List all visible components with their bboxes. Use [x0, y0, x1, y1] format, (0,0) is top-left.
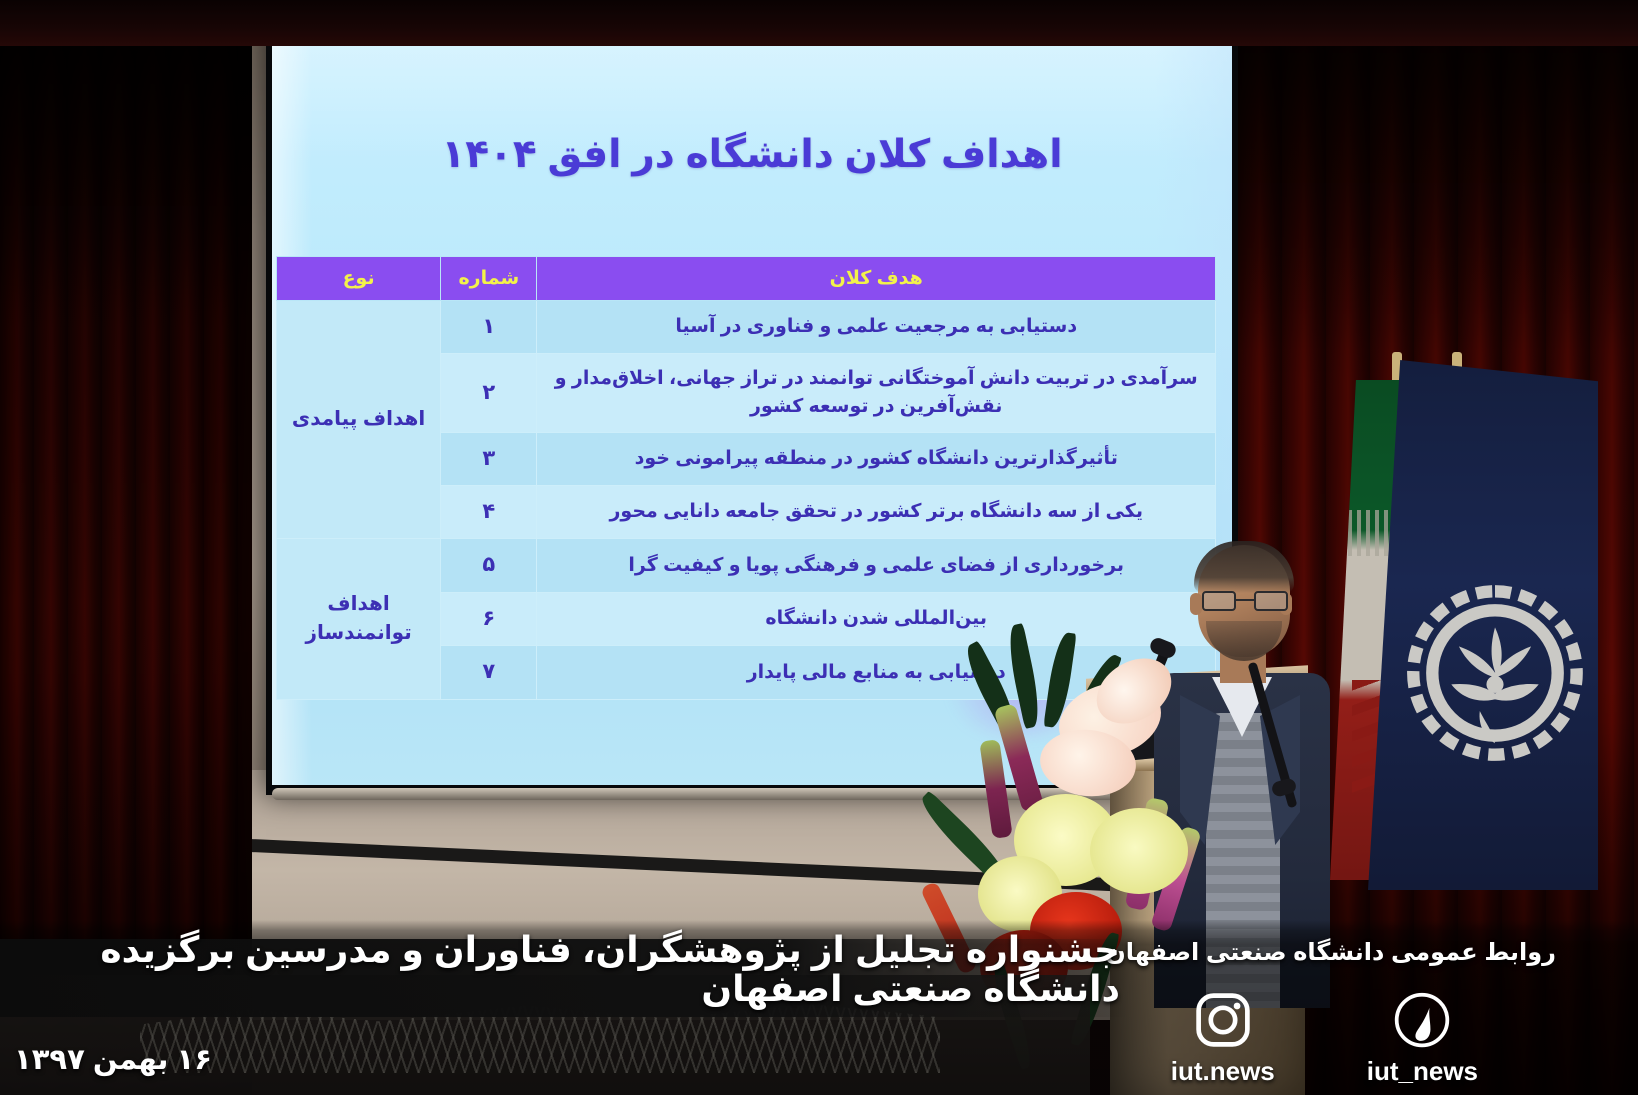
speaker-beard	[1206, 621, 1282, 661]
caption-headline: جشنواره تجلیل از پژوهشگران، فناوران و مد…	[0, 930, 1120, 1009]
table-row: برخورداری از فضای علمی و فرهنگی پویا و ک…	[277, 539, 1216, 592]
goal-number: ۱	[441, 301, 537, 354]
social-link-soroush[interactable]: iut_news	[1367, 990, 1478, 1087]
iut-logo-icon	[1400, 548, 1590, 798]
speaker-hair	[1194, 541, 1294, 593]
goal-number: ۶	[441, 592, 537, 645]
goal-text: دستیابی به مرجعیت علمی و فناوری در آسیا	[537, 301, 1216, 354]
public-relations-credit: روابط عمومی دانشگاه صنعتی اصفهان	[1105, 938, 1556, 967]
caption-overlay: روابط عمومی دانشگاه صنعتی اصفهان جشنواره…	[0, 920, 1638, 1095]
caption-date: ۱۶ بهمن ۱۳۹۷	[14, 1042, 212, 1077]
goal-number: ۴	[441, 485, 537, 538]
photo-scene: اهداف کلان دانشگاه در افق ۱۴۰۴ هدف کلان …	[0, 0, 1638, 1095]
soroush-icon	[1392, 990, 1452, 1050]
goal-number: ۵	[441, 539, 537, 592]
column-header-goal: هدف کلان	[537, 257, 1216, 301]
table-row: دستیابی به مرجعیت علمی و فناوری در آسیا …	[277, 301, 1216, 354]
goal-number: ۲	[441, 354, 537, 432]
goal-text: سرآمدی در تربیت دانش آموختگانی توانمند د…	[537, 354, 1216, 432]
instagram-icon	[1193, 990, 1253, 1050]
eyeglasses-icon	[1202, 591, 1288, 611]
goal-text: برخورداری از فضای علمی و فرهنگی پویا و ک…	[537, 539, 1216, 592]
social-handle: iut.news	[1171, 1056, 1275, 1087]
goal-text: یکی از سه دانشگاه برتر کشور در تحقق جامع…	[537, 485, 1216, 538]
goal-text: تأثیرگذارترین دانشگاه کشور در منطقه پیرا…	[537, 432, 1216, 485]
social-handle: iut_news	[1367, 1056, 1478, 1087]
social-links: iut_news iut.news	[1171, 990, 1478, 1087]
curtain-pelmet	[0, 0, 1638, 46]
speaker-ear-left	[1190, 593, 1202, 615]
column-header-type: نوع	[277, 257, 441, 301]
goals-table-head: هدف کلان شماره نوع	[277, 257, 1216, 301]
column-header-number: شماره	[441, 257, 537, 301]
goal-number: ۷	[441, 646, 537, 699]
table-header-row: هدف کلان شماره نوع	[277, 257, 1216, 301]
slide-title: اهداف کلان دانشگاه در افق ۱۴۰۴	[272, 132, 1232, 177]
goal-number: ۳	[441, 432, 537, 485]
goal-type-group: اهداف پیامدی	[277, 301, 441, 539]
social-link-instagram[interactable]: iut.news	[1171, 990, 1275, 1087]
goal-type-group: اهداف توانمندساز	[277, 539, 441, 699]
lily-yellow	[1090, 808, 1188, 894]
